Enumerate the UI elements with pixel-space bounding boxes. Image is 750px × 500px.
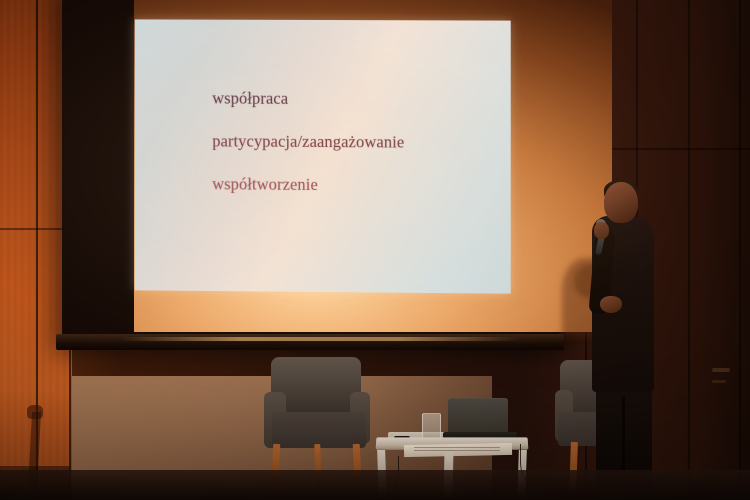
armchair-left-seat xyxy=(272,412,366,448)
panel-seam-6 xyxy=(739,0,741,500)
screen-bottom-rail xyxy=(120,337,520,341)
presentation-photo-scene: współpraca partycypacja/zaangażowanie ws… xyxy=(0,0,750,500)
mic-stand-shadow-head xyxy=(27,405,43,419)
slide-line-3: współtworzenie xyxy=(212,176,318,193)
panel-seam-5 xyxy=(688,0,690,500)
presenter-gesturing-hand xyxy=(600,296,622,313)
slide-line-2: partycypacja/zaangażowanie xyxy=(212,133,404,151)
slide-content: współpraca partycypacja/zaangażowanie ws… xyxy=(135,19,511,293)
door-handle-icon xyxy=(712,368,730,372)
stage-floor xyxy=(0,470,750,500)
door-lock-plate xyxy=(712,380,726,383)
papers-printed-lines xyxy=(414,447,500,453)
projected-slide: współpraca partycypacja/zaangażowanie ws… xyxy=(135,19,511,293)
presenter-head xyxy=(604,182,638,223)
presenter-hand-holding-mic xyxy=(594,222,609,239)
slide-line-1: współpraca xyxy=(212,90,288,107)
